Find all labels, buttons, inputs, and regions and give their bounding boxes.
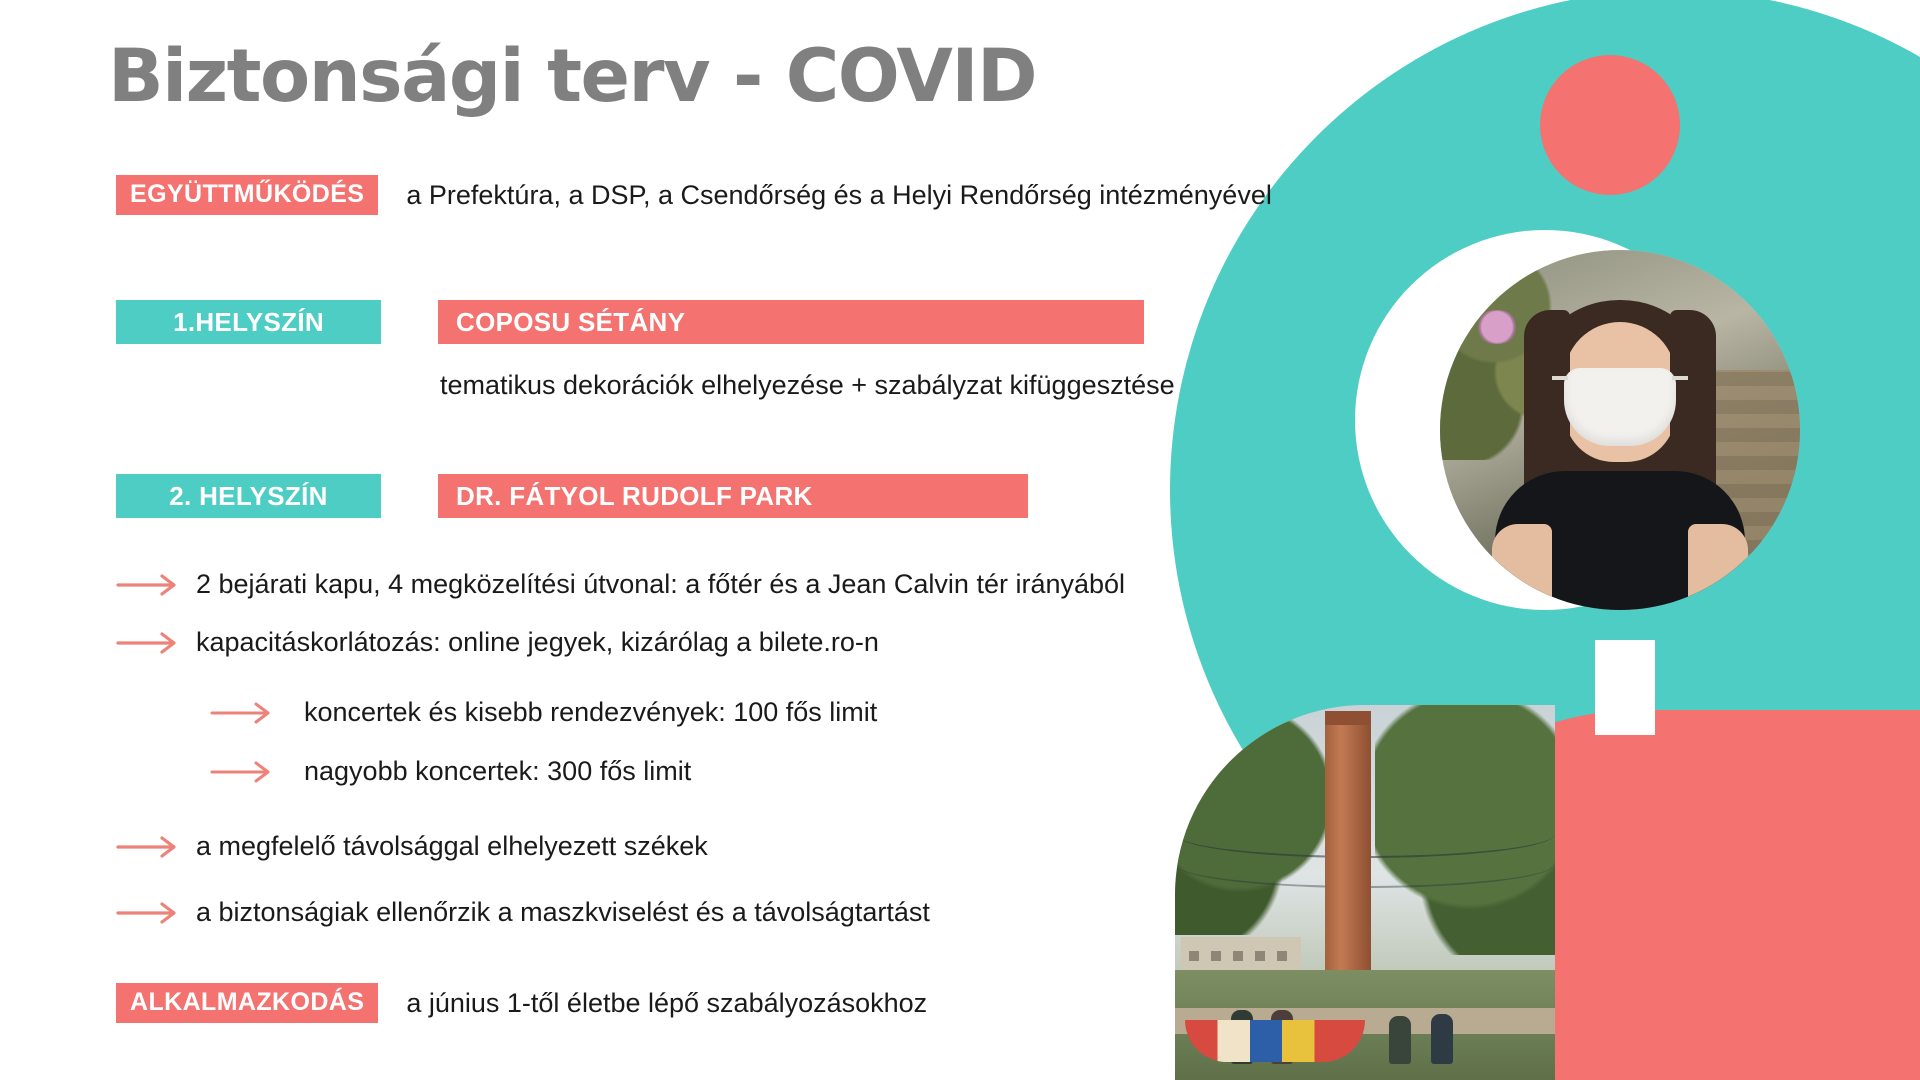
arrow-right-icon: [210, 760, 296, 784]
cooperation-text: a Prefektúra, a DSP, a Csendőrség és a H…: [406, 180, 1271, 211]
bullet-text: 2 bejárati kapu, 4 megközelítési útvonal…: [196, 569, 1125, 600]
bullet-item: kapacitáskorlátozás: online jegyek, kizá…: [116, 627, 879, 658]
adaptation-text: a június 1-től életbe lépő szabályozások…: [406, 988, 927, 1019]
arrow-right-icon: [210, 701, 296, 725]
photo-park-with-obelisk: [1175, 705, 1555, 1080]
bullet-item: a megfelelő távolsággal elhelyezett szék…: [116, 831, 708, 862]
bullet-text: koncertek és kisebb rendezvények: 100 fő…: [304, 697, 877, 728]
arrow-right-icon: [116, 835, 188, 859]
bullet-text: nagyobb koncertek: 300 fős limit: [304, 756, 691, 787]
white-spacer-decoration: [1595, 640, 1655, 735]
location2-name: DR. FÁTYOL RUDOLF PARK: [438, 474, 1028, 518]
bullet-item: koncertek és kisebb rendezvények: 100 fő…: [210, 697, 877, 728]
coral-small-circle-decoration: [1540, 55, 1680, 195]
presentation-slide: Biztonsági terv - COVID EGYÜTTMŰKÖDÉS a …: [0, 0, 1920, 1080]
location2-row: 2. HELYSZÍN DR. FÁTYOL RUDOLF PARK: [116, 474, 1028, 518]
arrow-right-icon: [116, 901, 188, 925]
location1-name: COPOSU SÉTÁNY: [438, 300, 1144, 344]
location2-tag: 2. HELYSZÍN: [116, 474, 381, 518]
cooperation-tag: EGYÜTTMŰKÖDÉS: [116, 175, 378, 215]
location1-row: 1.HELYSZÍN COPOSU SÉTÁNY: [116, 300, 1144, 344]
location1-detail-row: tematikus dekorációk elhelyezése + szabá…: [440, 370, 1175, 401]
bullet-text: kapacitáskorlátozás: online jegyek, kizá…: [196, 627, 879, 658]
page-title: Biztonsági terv - COVID: [108, 34, 1036, 119]
bullet-item: 2 bejárati kapu, 4 megközelítési útvonal…: [116, 569, 1125, 600]
adaptation-tag: ALKALMAZKODÁS: [116, 983, 378, 1023]
bullet-item: nagyobb koncertek: 300 fős limit: [210, 756, 691, 787]
arrow-right-icon: [116, 631, 188, 655]
cooperation-row: EGYÜTTMŰKÖDÉS a Prefektúra, a DSP, a Cse…: [116, 175, 1272, 215]
location1-detail: tematikus dekorációk elhelyezése + szabá…: [440, 370, 1175, 401]
bullet-text: a biztonságiak ellenőrzik a maszkviselés…: [196, 897, 930, 928]
location1-tag: 1.HELYSZÍN: [116, 300, 381, 344]
adaptation-row: ALKALMAZKODÁS a június 1-től életbe lépő…: [116, 983, 927, 1023]
bullet-item: a biztonságiak ellenőrzik a maszkviselés…: [116, 897, 930, 928]
photo-woman-with-face-mask: [1440, 250, 1800, 610]
arrow-right-icon: [116, 573, 188, 597]
bullet-text: a megfelelő távolsággal elhelyezett szék…: [196, 831, 708, 862]
